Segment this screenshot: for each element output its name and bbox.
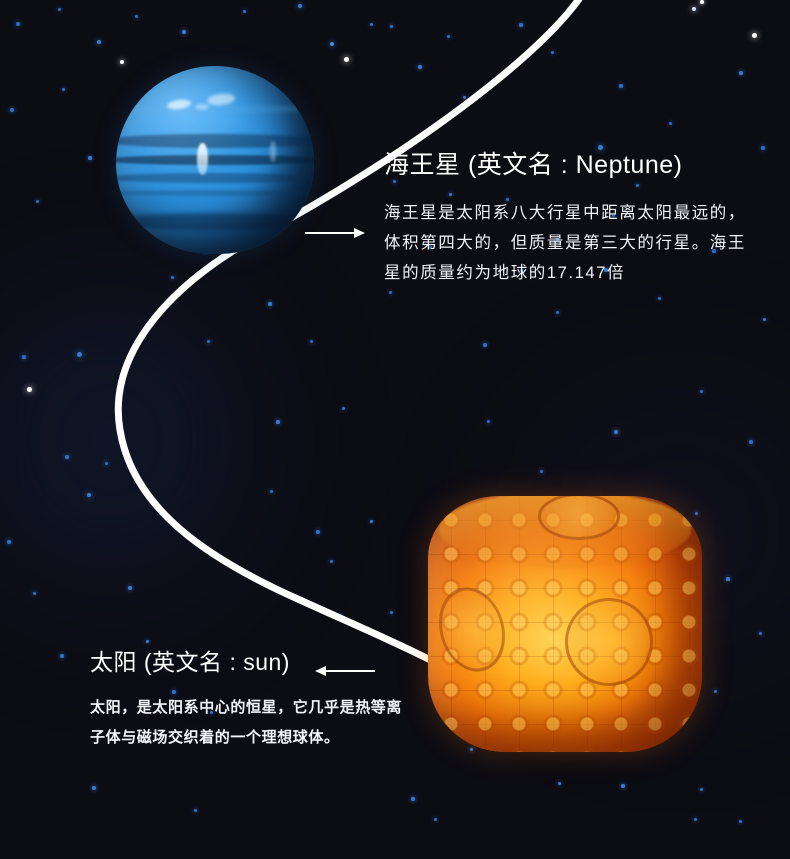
- star: [700, 0, 704, 4]
- star: [739, 71, 743, 75]
- star: [10, 108, 14, 112]
- neptune-cloud-spot: [195, 104, 209, 111]
- neptune-band: [116, 105, 314, 113]
- star: [763, 318, 766, 321]
- star: [487, 420, 490, 423]
- star: [65, 455, 69, 459]
- star: [519, 23, 523, 27]
- star: [658, 297, 661, 300]
- star: [27, 387, 32, 392]
- star: [339, 614, 342, 617]
- sun-object: [428, 496, 702, 752]
- star: [194, 809, 197, 812]
- star: [761, 146, 765, 150]
- star: [390, 25, 393, 28]
- star: [268, 302, 272, 306]
- star: [88, 156, 92, 160]
- star: [120, 60, 124, 64]
- neptune-band: [116, 173, 314, 183]
- star: [270, 490, 273, 493]
- star: [135, 15, 138, 18]
- neptune-band: [116, 134, 314, 148]
- sun-label-block: 太阳 (英文名 : sun) 太阳，是太阳系中心的恒星，它几乎是热等离子体与磁场…: [90, 650, 410, 753]
- star: [692, 7, 696, 11]
- star: [36, 200, 39, 203]
- star: [207, 340, 210, 343]
- star: [87, 493, 91, 497]
- star: [614, 430, 618, 434]
- neptune-label-block: 海王星 (英文名 : Neptune) 海王星是太阳系八大行星中距离太阳最远的，…: [384, 152, 758, 288]
- star: [389, 291, 392, 294]
- star: [551, 51, 554, 54]
- star: [128, 586, 132, 590]
- neptune-pointer-arrow: [304, 224, 366, 242]
- star: [243, 10, 246, 13]
- star: [749, 440, 753, 444]
- star: [411, 797, 415, 801]
- star: [752, 33, 757, 38]
- neptune-band: [116, 213, 314, 230]
- star: [418, 65, 422, 69]
- star: [370, 520, 373, 523]
- neptune-planet: [116, 66, 314, 254]
- sun-title: 太阳 (英文名 : sun): [90, 650, 410, 675]
- neptune-band: [116, 190, 314, 196]
- star: [77, 352, 82, 357]
- star: [276, 420, 280, 424]
- star: [619, 84, 623, 88]
- star: [434, 818, 437, 821]
- star: [60, 654, 64, 658]
- neptune-band: [116, 155, 314, 164]
- sun-description: 太阳，是太阳系中心的恒星，它几乎是热等离子体与磁场交织着的一个理想球体。: [90, 693, 410, 753]
- star: [182, 30, 186, 34]
- sun-brick-body: [428, 496, 702, 752]
- star: [342, 407, 345, 410]
- star: [700, 390, 703, 393]
- star: [330, 42, 334, 46]
- star: [105, 462, 108, 465]
- sun-disc-plate: [565, 598, 653, 686]
- star: [316, 530, 320, 534]
- star: [171, 276, 174, 279]
- star: [7, 540, 11, 544]
- star: [97, 40, 101, 44]
- star: [669, 122, 672, 125]
- neptune-highlight: [197, 143, 208, 175]
- star: [310, 340, 313, 343]
- star: [146, 640, 149, 643]
- neptune-cloud-spot: [167, 98, 192, 111]
- star: [556, 311, 559, 314]
- star: [16, 22, 20, 26]
- star: [344, 57, 349, 62]
- infographic-canvas: 海王星 (英文名 : Neptune) 海王星是太阳系八大行星中距离太阳最远的，…: [0, 0, 790, 859]
- star: [483, 343, 487, 347]
- star: [694, 818, 697, 821]
- star: [62, 88, 65, 91]
- star: [330, 560, 333, 563]
- star: [92, 786, 96, 790]
- neptune-description: 海王星是太阳系八大行星中距离太阳最远的，体积第四大的，但质量是第三大的行星。海王…: [384, 198, 758, 288]
- star: [22, 355, 26, 359]
- star: [700, 788, 703, 791]
- neptune-cloud-spot: [207, 93, 236, 107]
- star: [370, 23, 373, 26]
- star: [33, 592, 36, 595]
- star: [447, 35, 450, 38]
- star: [759, 632, 762, 635]
- star: [598, 145, 603, 150]
- star: [739, 820, 742, 823]
- star: [298, 4, 302, 8]
- nebula-glow-left: [0, 230, 300, 650]
- star: [58, 8, 61, 11]
- neptune-title: 海王星 (英文名 : Neptune): [384, 152, 758, 180]
- star: [463, 96, 466, 99]
- neptune-highlight-secondary: [270, 141, 276, 162]
